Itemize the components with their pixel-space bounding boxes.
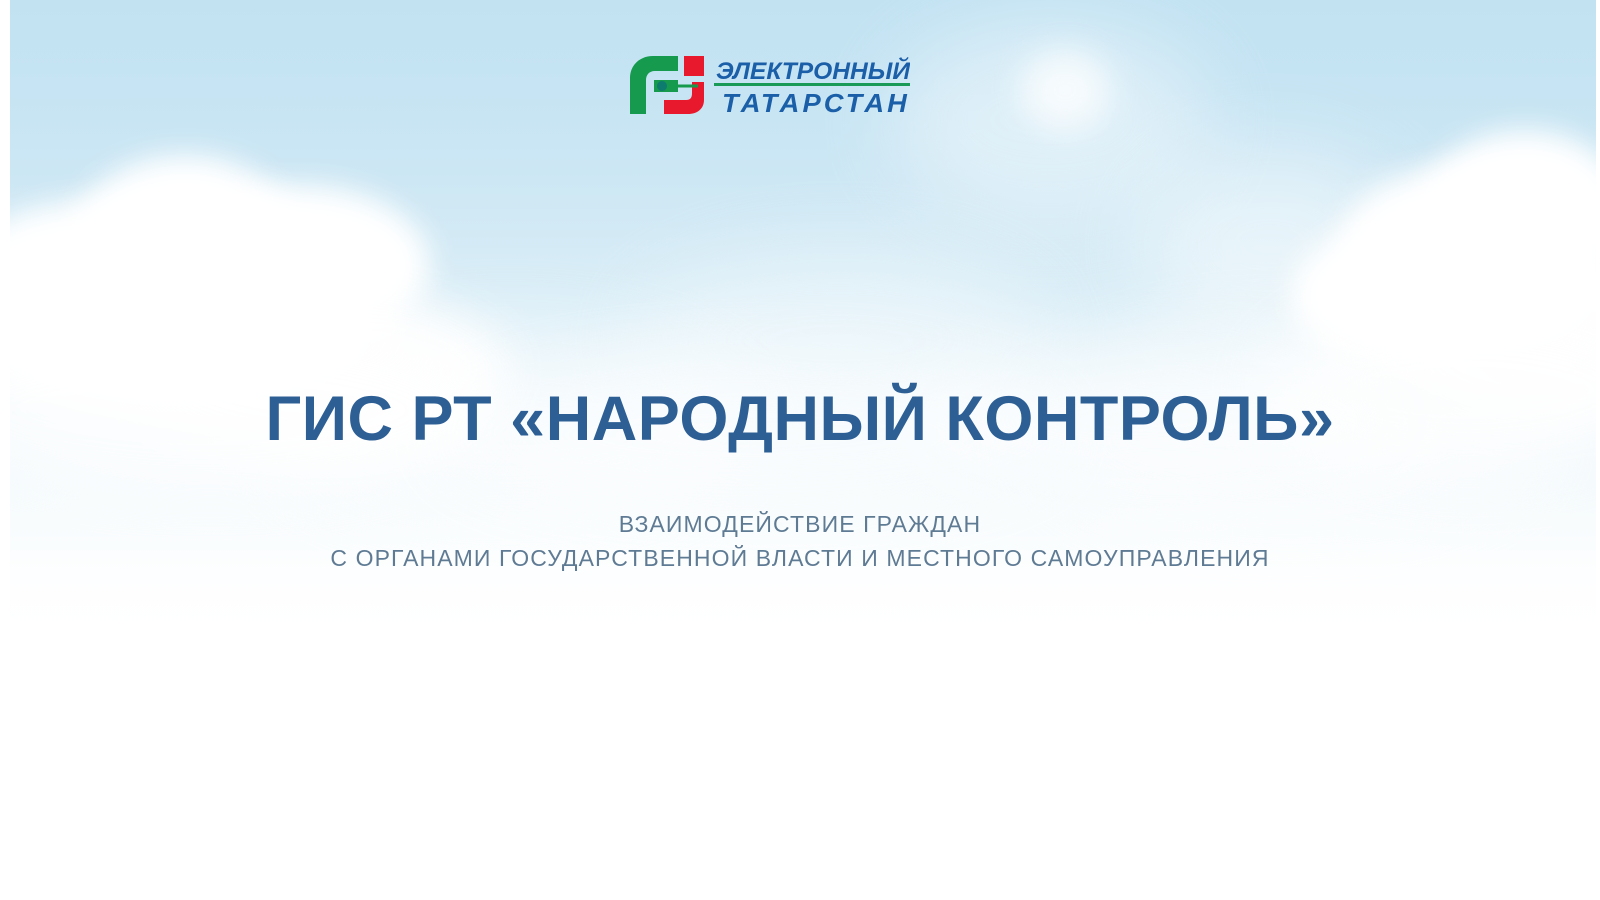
logo-text-line2: ТАТАРСТАН <box>722 88 910 118</box>
logo-mark-red-block <box>684 56 704 76</box>
logo-text-line1: ЭЛЕКТРОННЫЙ <box>716 56 910 85</box>
title-container: ГИС РТ «НАРОДНЫЙ КОНТРОЛЬ» <box>0 386 1600 452</box>
logo-mark-dot <box>657 81 667 91</box>
sky-haze <box>1020 50 1110 130</box>
subtitle-container: ВЗАИМОДЕЙСТВИЕ ГРАЖДАН С ОРГАНАМИ ГОСУДА… <box>0 508 1600 575</box>
subtitle-line-1: ВЗАИМОДЕЙСТВИЕ ГРАЖДАН <box>0 508 1600 542</box>
subtitle-line-2: С ОРГАНАМИ ГОСУДАРСТВЕННОЙ ВЛАСТИ И МЕСТ… <box>0 542 1600 576</box>
page-margin-right <box>1596 0 1600 900</box>
page-title: ГИС РТ «НАРОДНЫЙ КОНТРОЛЬ» <box>0 386 1600 452</box>
elektronnyy-tatarstan-logo: ЭЛЕКТРОННЫЙ ТАТАРСТАН <box>618 52 910 118</box>
presentation-slide: ЭЛЕКТРОННЫЙ ТАТАРСТАН ГИС РТ «НАРОДНЫЙ К… <box>0 0 1600 900</box>
page-margin-left <box>0 0 10 900</box>
